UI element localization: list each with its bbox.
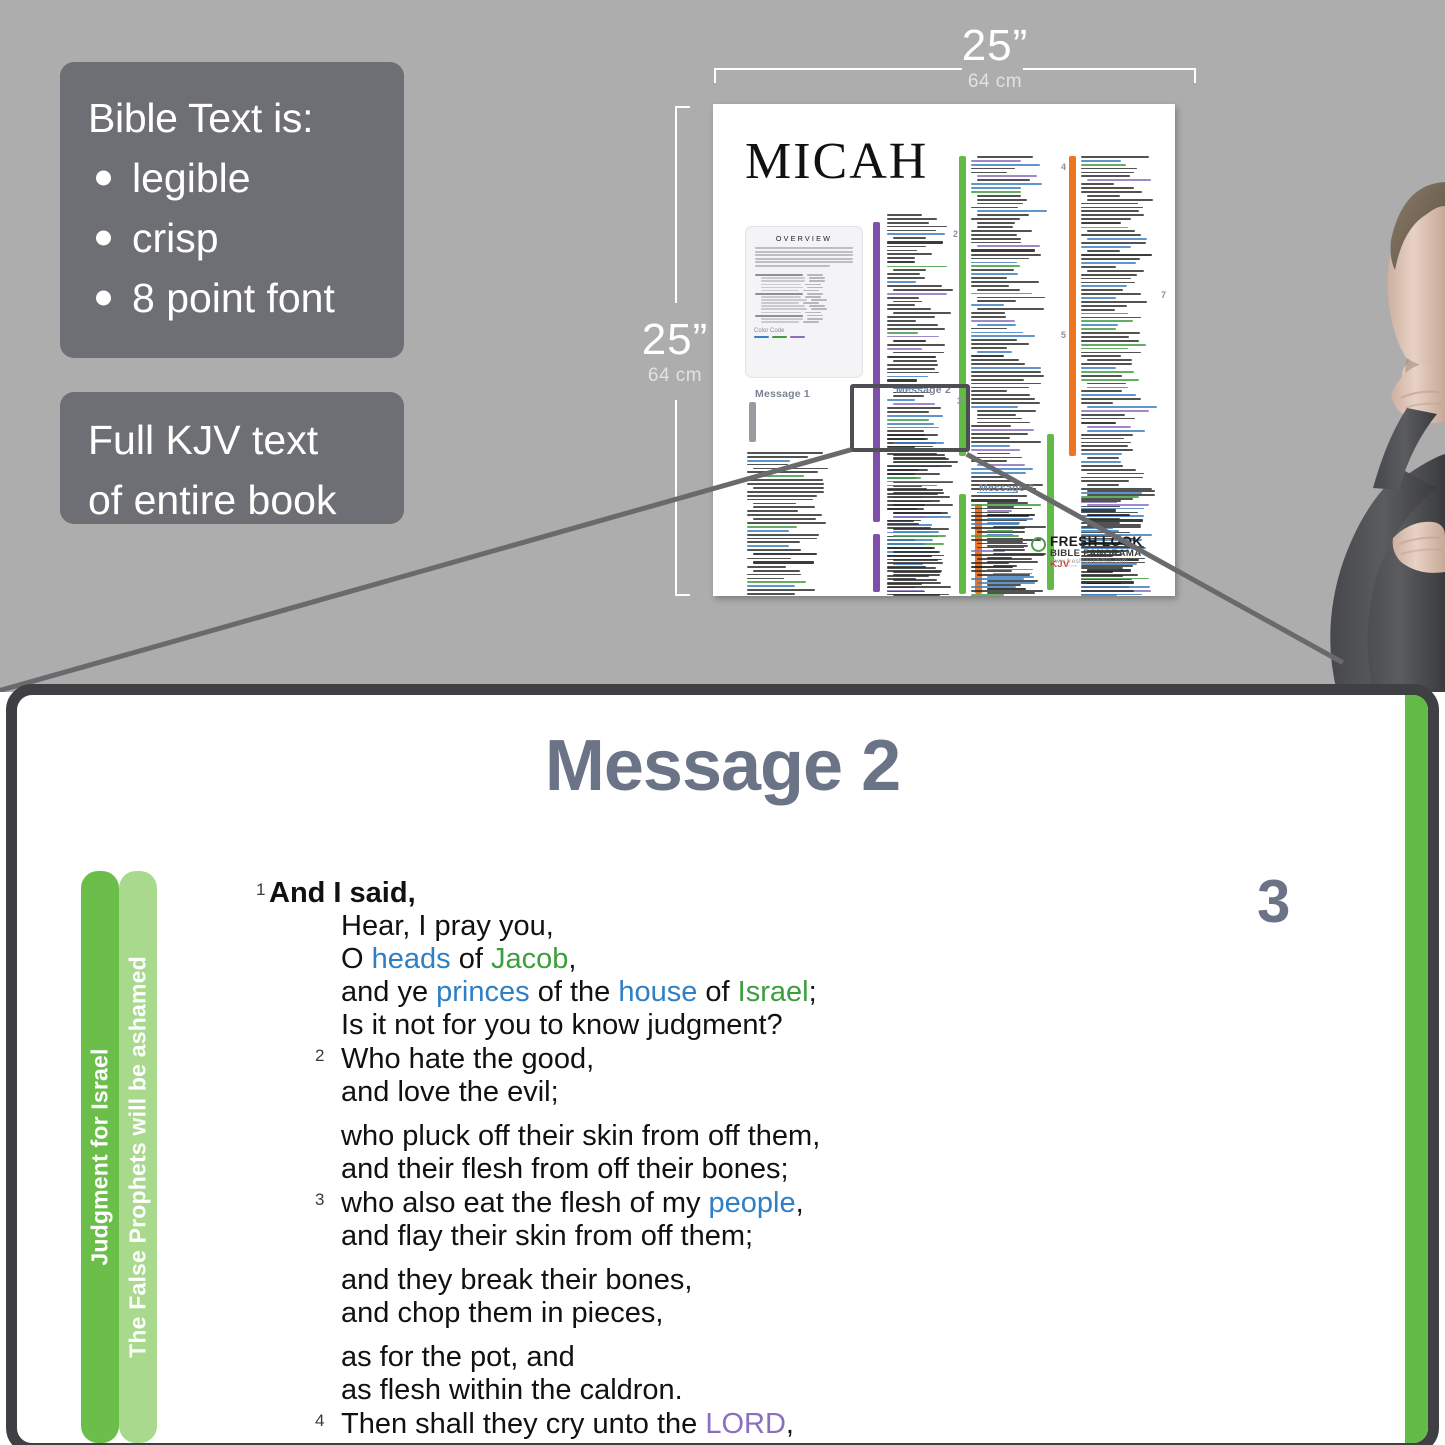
poster-rail-orange bbox=[1069, 156, 1076, 456]
poster-overview-heading: OVERVIEW bbox=[752, 234, 856, 243]
right-green-rail bbox=[1405, 695, 1439, 1445]
promo-composite: Bible Text is: legible crisp 8 point fon… bbox=[0, 0, 1445, 1445]
verse-number: 3 bbox=[315, 1183, 324, 1216]
verse-text: who pluck off their skin from off them, bbox=[341, 1120, 820, 1152]
logo-fineprint: ▪▪▪▪▪▪▪▪▪ ▪▪▪▪▪▪ ▪▪▪▪▪ bbox=[1050, 564, 1077, 568]
poster-overview-box: OVERVIEW Color Code bbox=[745, 226, 863, 378]
verse-text: and their flesh from off their bones; bbox=[341, 1153, 789, 1185]
poster-chapter-marker: 2 bbox=[953, 229, 958, 239]
poster-title: MICAH bbox=[745, 136, 928, 188]
verse-line: but he will not hear them: bbox=[341, 1441, 1029, 1445]
verse-line: and chop them in pieces, bbox=[341, 1297, 1029, 1330]
callout-full-kjv-text: Full KJV text of entire book bbox=[60, 392, 404, 524]
verse-line: 1And I said, bbox=[269, 877, 1029, 910]
callout-bible-text-features: Bible Text is: legible crisp 8 point fon… bbox=[60, 62, 404, 358]
verse-text: Hear, I pray you, bbox=[341, 910, 554, 942]
verse-text: and flay their skin from off them; bbox=[341, 1220, 753, 1252]
panel-title: Message 2 bbox=[17, 725, 1428, 807]
poster-message-label-1: Message 1 bbox=[755, 388, 810, 400]
verse-text: Is it not for you to know judgment? bbox=[341, 1009, 783, 1041]
callout-feature-label: 8 point font bbox=[132, 275, 335, 321]
verse-line: who pluck off their skin from off them, bbox=[341, 1120, 1029, 1153]
verse-text: Then shall they cry unto the bbox=[341, 1408, 705, 1440]
highlighted-word: princes bbox=[436, 976, 530, 1008]
dimension-width-cm: 64 cm bbox=[900, 72, 1090, 91]
dimension-width-inches: 25” bbox=[900, 24, 1090, 68]
verse-text: and love the evil; bbox=[341, 1076, 559, 1108]
verse-text: O bbox=[341, 943, 372, 975]
bullet-icon bbox=[96, 291, 111, 306]
section-tab-judgment-for-israel[interactable]: Judgment for Israel bbox=[81, 871, 119, 1443]
callout-feature-label: legible bbox=[132, 155, 251, 201]
person-illustration bbox=[1295, 158, 1445, 692]
bullet-icon bbox=[96, 171, 111, 186]
verse-line: O heads of Jacob, bbox=[341, 943, 1029, 976]
verse: 4Then shall they cry unto the LORD,but h… bbox=[269, 1408, 1029, 1445]
chapter-number: 3 bbox=[1257, 867, 1290, 936]
verse-text: ; bbox=[809, 976, 817, 1008]
poster-chapter-marker: 7 bbox=[1161, 290, 1166, 300]
verse-text: and ye bbox=[341, 976, 436, 1008]
verse-line: 2Who hate the good, bbox=[341, 1043, 1029, 1076]
verse-text: as flesh within the caldron. bbox=[341, 1374, 683, 1406]
callout-feature-label: crisp bbox=[132, 215, 219, 261]
promo-top-section: Bible Text is: legible crisp 8 point fon… bbox=[0, 0, 1445, 692]
dimension-tick-top bbox=[675, 106, 690, 108]
poster-rail-purple-2 bbox=[873, 534, 880, 592]
verse-line: 4Then shall they cry unto the LORD, bbox=[341, 1408, 1029, 1441]
poster-color-code-label: Color Code bbox=[752, 328, 856, 334]
verse-text-block: 1And I said,Hear, I pray you,O heads of … bbox=[269, 877, 1029, 1445]
verse-text: as for the pot, and bbox=[341, 1341, 575, 1373]
poster-thumbnail[interactable]: MICAH OVERVIEW bbox=[713, 104, 1175, 596]
poster-chapter-marker: 5 bbox=[1061, 330, 1066, 340]
poster-logo: FRESH LOOK BIBLE PANORAMA KJV www.freshl… bbox=[1031, 534, 1151, 568]
verse-line: 3who also eat the flesh of my people, bbox=[341, 1187, 1029, 1220]
verse-text: and they break their bones, bbox=[341, 1264, 692, 1296]
dimension-width: 25” 64 cm bbox=[900, 24, 1090, 91]
poster-rail-gray bbox=[749, 402, 756, 442]
poster-rail-purple bbox=[873, 222, 880, 522]
verse-line: and ye princes of the house of Israel; bbox=[341, 976, 1029, 1009]
verse-line: Is it not for you to know judgment? bbox=[341, 1009, 1029, 1042]
verse-text: will not hear them: bbox=[422, 1441, 665, 1445]
dimension-tick-right bbox=[1194, 68, 1196, 83]
verse-text: and chop them in pieces, bbox=[341, 1297, 663, 1329]
verse-line: as flesh within the caldron. bbox=[341, 1374, 1029, 1407]
verse-text: who also eat the flesh of my bbox=[341, 1187, 709, 1219]
verse: 2Who hate the good,and love the evil;who… bbox=[269, 1043, 1029, 1186]
verse-line: and flay their skin from off them; bbox=[341, 1220, 1029, 1253]
verse-line: Hear, I pray you, bbox=[341, 910, 1029, 943]
fresh-look-ring-icon bbox=[1031, 537, 1046, 552]
highlighted-word: heads bbox=[372, 943, 451, 975]
poster-rail-green-2 bbox=[959, 494, 966, 594]
highlighted-word: people bbox=[709, 1187, 796, 1219]
verse-text: but bbox=[341, 1441, 389, 1445]
verse-line: and they break their bones, bbox=[341, 1264, 1029, 1297]
person-photo bbox=[1295, 158, 1445, 692]
verse-line: as for the pot, and bbox=[341, 1341, 1029, 1374]
dimension-tick-left bbox=[714, 68, 716, 83]
highlighted-word: he bbox=[389, 1441, 421, 1445]
highlighted-word: Jacob bbox=[491, 943, 568, 975]
verse-text: of bbox=[697, 976, 737, 1008]
verse-text: , bbox=[796, 1187, 804, 1219]
verse-text: And I said, bbox=[269, 877, 416, 909]
verse-text: Who hate the good, bbox=[341, 1043, 594, 1075]
verse-number: 2 bbox=[315, 1039, 324, 1072]
poster-chapter-marker: 4 bbox=[1061, 162, 1066, 172]
verse-spacer bbox=[269, 1109, 1029, 1120]
callout-heading: Bible Text is: bbox=[88, 88, 404, 148]
dimension-line-top bbox=[675, 106, 677, 303]
dimension-tick-bottom bbox=[675, 594, 690, 596]
verse-spacer bbox=[269, 1330, 1029, 1341]
zoom-highlight-rectangle bbox=[850, 384, 970, 452]
callout-kjv-line-1: Full KJV text bbox=[88, 410, 404, 470]
section-tab-label: The False Prophets will be ashamed bbox=[125, 956, 152, 1358]
section-tab-label: Judgment for Israel bbox=[87, 1048, 114, 1265]
verse-line: and love the evil; bbox=[341, 1076, 1029, 1109]
magnified-detail-panel: Message 2 Judgment for Israel The False … bbox=[6, 684, 1439, 1445]
verse: 1And I said,Hear, I pray you,O heads of … bbox=[269, 877, 1029, 1042]
highlighted-word: LORD bbox=[705, 1408, 786, 1440]
bullet-icon bbox=[96, 231, 111, 246]
callout-kjv-line-2: of entire book bbox=[88, 470, 404, 530]
verse-spacer bbox=[269, 1253, 1029, 1264]
verse-number: 4 bbox=[315, 1404, 324, 1437]
callout-feature-item: crisp bbox=[88, 208, 404, 268]
verse-number: 1 bbox=[256, 873, 265, 906]
callout-feature-item: legible bbox=[88, 148, 404, 208]
poster-color-code-chips bbox=[752, 336, 856, 338]
callout-feature-item: 8 point font bbox=[88, 268, 404, 328]
verse-text: of the bbox=[530, 976, 619, 1008]
verse-text: of bbox=[451, 943, 491, 975]
poster-text-column bbox=[887, 434, 953, 596]
verse-text: , bbox=[568, 943, 576, 975]
highlighted-word: Israel bbox=[738, 976, 809, 1008]
verse-text: , bbox=[786, 1408, 794, 1440]
section-tab-false-prophets[interactable]: The False Prophets will be ashamed bbox=[119, 871, 157, 1443]
verse: 3who also eat the flesh of my people,and… bbox=[269, 1187, 1029, 1407]
highlighted-word: house bbox=[618, 976, 697, 1008]
verse-line: and their flesh from off their bones; bbox=[341, 1153, 1029, 1186]
